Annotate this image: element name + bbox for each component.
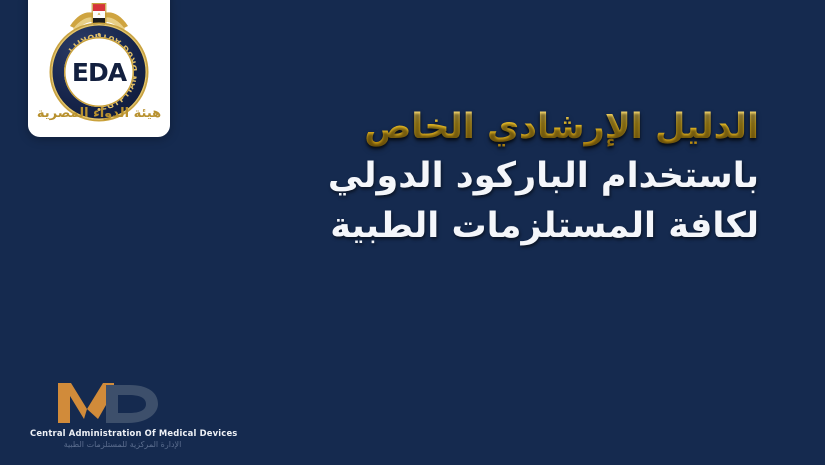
eda-emblem: EGYPTIAN DRUG AUTHORITY EDA [47, 2, 151, 106]
md-english-caption: Central Administration Of Medical Device… [30, 428, 215, 438]
md-monogram-icon [54, 379, 215, 425]
eda-acronym: EDA [64, 37, 134, 107]
title-line-1: الدليل الإرشادي الخاص [59, 104, 759, 151]
title-line-3: لكافة المستلزمات الطبية [59, 201, 759, 251]
title-line-2: باستخدام الباركود الدولي [59, 151, 759, 201]
presentation-slide: EGYPTIAN DRUG AUTHORITY EDA هيئة الدواء … [0, 0, 825, 465]
md-arabic-caption: الإدارة المركزية للمستلزمات الطبية [30, 440, 215, 449]
slide-title: الدليل الإرشادي الخاص باستخدام الباركود … [59, 104, 759, 251]
md-logo: Central Administration Of Medical Device… [30, 379, 215, 449]
